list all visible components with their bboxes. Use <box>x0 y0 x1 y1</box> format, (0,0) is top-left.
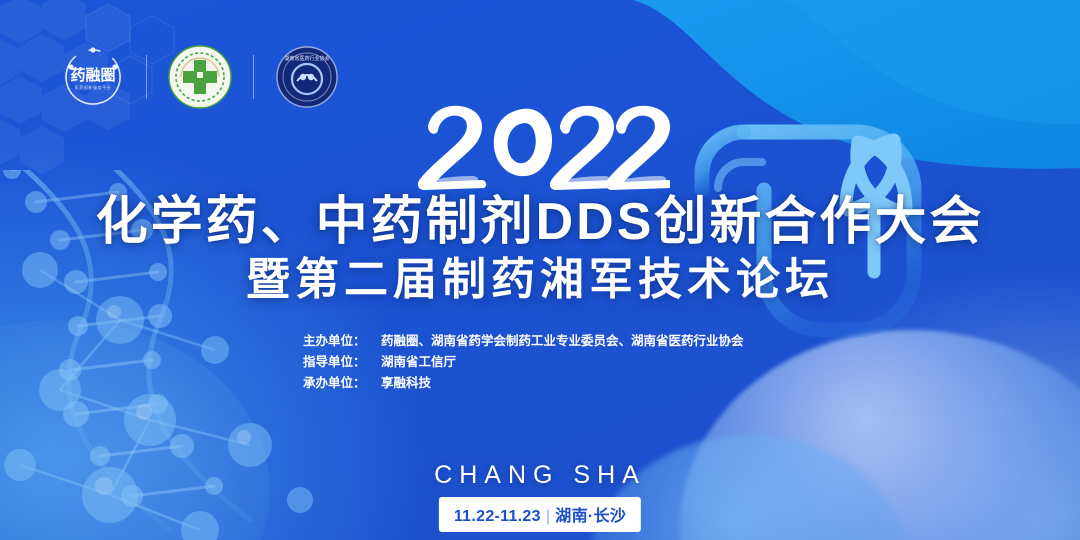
city-name-en: CHANG SHA <box>0 461 1080 490</box>
organizer-row: 主办单位： 药融圈、湖南省药学会制药工业专业委员会、湖南省医药行业协会 <box>303 331 744 352</box>
conference-poster: 药融圈 医药创新服务平台 <box>0 0 1080 540</box>
date-separator: | <box>541 508 555 525</box>
svg-text:医药创新服务平台: 医药创新服务平台 <box>75 84 112 90</box>
logo-divider-1 <box>146 55 147 99</box>
organizer-label: 主办单位： <box>303 331 381 352</box>
location-cn: 湖南·长沙 <box>555 508 626 525</box>
logo-divider-2 <box>253 55 254 99</box>
organizer-value: 享融科技 <box>381 373 431 394</box>
date-location-badge: 11.22-11.23|湖南·长沙 <box>439 497 641 532</box>
organizer-label: 承办单位： <box>303 373 381 394</box>
organizer-value: 药融圈、湖南省药学会制药工业专业委员会、湖南省医药行业协会 <box>381 331 744 352</box>
organizer-value: 湖南省工信厅 <box>381 352 456 373</box>
organizer-list: 主办单位： 药融圈、湖南省药学会制药工业专业委员会、湖南省医药行业协会 指导单位… <box>303 331 744 394</box>
page-subtitle: 暨第二届制药湘军技术论坛 <box>0 258 1080 302</box>
organizer-label: 指导单位： <box>303 352 381 373</box>
organizer-row: 承办单位： 享融科技 <box>303 373 744 394</box>
page-title: 化学药、中药制剂DDS创新合作大会 <box>0 196 1080 248</box>
organizer-row: 指导单位： 湖南省工信厅 <box>303 352 744 373</box>
year-brush-lettering <box>0 96 1080 196</box>
svg-text:药融圈: 药融圈 <box>70 66 115 84</box>
svg-text:湖南省医药行业协会: 湖南省医药行业协会 <box>284 55 329 62</box>
date-range: 11.22-11.23 <box>454 508 541 525</box>
